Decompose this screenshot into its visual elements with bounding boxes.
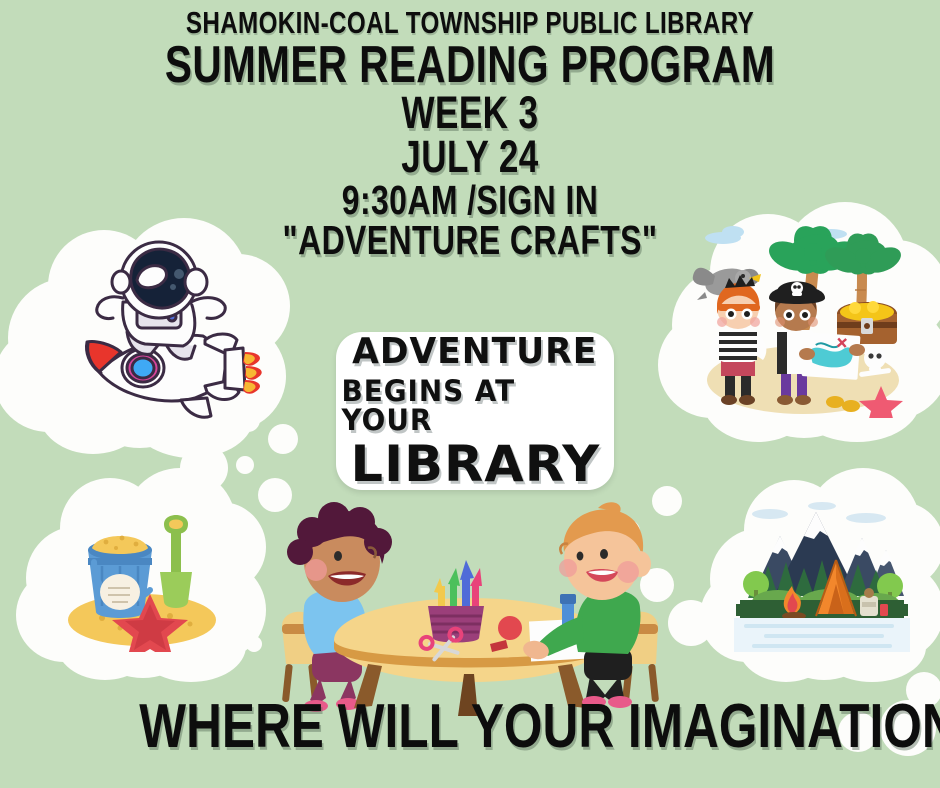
adventure-begins-badge: ADVENTURE BEGINS AT YOUR LIBRARY (336, 332, 614, 490)
badge-line-3: LIBRARY (350, 439, 600, 489)
sand-bucket-shovel-starfish-icon (58, 492, 228, 652)
bubble-dot (838, 712, 878, 752)
badge-line-2: BEGINS AT YOUR (342, 377, 609, 435)
astronaut-riding-rocket-icon (55, 240, 265, 430)
poster-canvas: SHAMOKIN-COAL TOWNSHIP PUBLIC LIBRARY SU… (0, 0, 940, 788)
pirate-kids-treasure-island-icon (685, 218, 915, 418)
date-label: JULY 24 (103, 135, 836, 179)
bubble-dot (668, 600, 714, 646)
bubble-dot (180, 444, 228, 492)
badge-line-1: ADVENTURE (352, 334, 597, 370)
program-title: SUMMER READING PROGRAM (103, 40, 836, 91)
two-kids-crafting-at-table-icon (268, 498, 672, 716)
camping-tent-mountains-lake-icon (734, 492, 910, 652)
week-label: WEEK 3 (103, 91, 836, 135)
bubble-dot (238, 520, 258, 540)
bubble-dot (236, 456, 254, 474)
library-name: SHAMOKIN-COAL TOWNSHIP PUBLIC LIBRARY (103, 8, 836, 38)
bubble-dot (268, 424, 298, 454)
bubble-dot (906, 672, 940, 708)
bubble-dot (246, 636, 262, 652)
bubble-dot (880, 700, 936, 756)
